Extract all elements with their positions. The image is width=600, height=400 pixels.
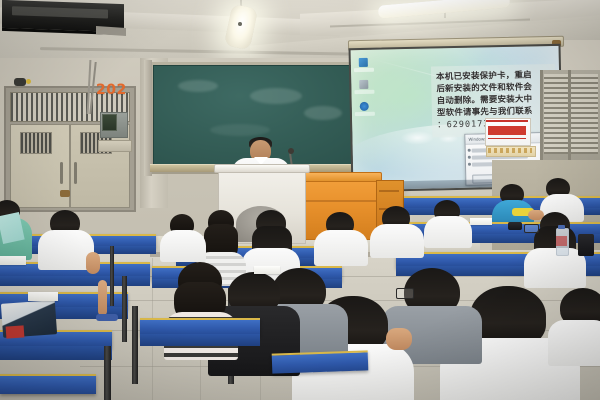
- desk-row: [272, 350, 369, 373]
- phone-in-hand[interactable]: [578, 234, 594, 256]
- poster-rule: [488, 138, 526, 139]
- orange-cabinet-top: [296, 172, 382, 182]
- window-blinds[interactable]: [544, 74, 598, 154]
- glasses-icon: [524, 224, 539, 233]
- door-handle[interactable]: [60, 162, 63, 184]
- desktop-icon-label: [355, 112, 375, 116]
- chalk-smudge: [304, 106, 342, 120]
- my-computer-icon[interactable]: [359, 58, 368, 67]
- microphone-icon: [288, 148, 294, 154]
- student-leg: [98, 280, 107, 316]
- cabinet-drawer-seam: [379, 190, 399, 192]
- sandal-icon: [96, 314, 118, 321]
- desk-front: [0, 346, 112, 360]
- poster-band: [486, 120, 528, 122]
- wall-sign-text: [488, 148, 532, 153]
- chalk-smudge: [250, 88, 302, 104]
- blackboard-edge: [144, 60, 152, 176]
- recycle-bin-icon[interactable]: [359, 80, 368, 89]
- desk-leg: [132, 306, 138, 384]
- dialog-title-text: Windows: [468, 136, 486, 141]
- room-number-sign: 202: [96, 82, 136, 98]
- desk-leg: [104, 346, 111, 400]
- light-fitting: [238, 22, 242, 26]
- student-torso: [314, 230, 368, 266]
- desk-row: [0, 374, 96, 394]
- student-torso: [424, 216, 472, 248]
- ac-vent: [12, 6, 108, 18]
- cabinet-seam: [300, 200, 376, 202]
- notebook-on-desk[interactable]: [0, 256, 26, 265]
- bag-logo-patch: [6, 325, 25, 338]
- phone-on-desk[interactable]: [508, 222, 522, 230]
- desk-front: [0, 276, 150, 286]
- wall-outlet-strip: [98, 140, 132, 152]
- door-handle[interactable]: [74, 162, 77, 184]
- bottle-label: [556, 236, 567, 246]
- desktop-icon-label: [354, 90, 374, 94]
- alarm-led-icon: [26, 79, 31, 84]
- chalk-smudge: [210, 124, 270, 136]
- classroom-photo: 202 本机已安装保护卡，重启 后新安装的文件和软件会 自动删除。需要安装大中 …: [0, 0, 600, 400]
- desk-leg: [110, 246, 114, 306]
- door-window-left: [20, 132, 52, 154]
- dialog-bullet: [468, 163, 471, 166]
- alarm-device-icon: [14, 78, 26, 86]
- notebook-on-desk[interactable]: [254, 266, 280, 274]
- dialog-bullet: [468, 149, 471, 152]
- student-hand: [386, 328, 412, 350]
- door-lock-icon[interactable]: [60, 190, 70, 197]
- dialog-bullet: [468, 156, 471, 159]
- student-arm: [86, 252, 100, 274]
- desk-front: [140, 334, 260, 346]
- student-torso: [524, 248, 586, 288]
- desktop-icon-label: [354, 68, 374, 72]
- poster-red-block: [488, 126, 526, 135]
- notebook-on-desk[interactable]: [470, 218, 492, 225]
- desk-leg: [122, 276, 127, 342]
- bottle-cap: [558, 225, 565, 229]
- electric-meter-icon: [102, 114, 117, 131]
- chalk-smudge: [178, 80, 218, 92]
- notebook-on-desk[interactable]: [28, 292, 58, 301]
- lectern-top: [214, 164, 310, 173]
- student-torso: [160, 230, 206, 262]
- glasses-icon: [396, 288, 414, 299]
- student-torso: [548, 320, 600, 366]
- student-torso: [370, 224, 424, 258]
